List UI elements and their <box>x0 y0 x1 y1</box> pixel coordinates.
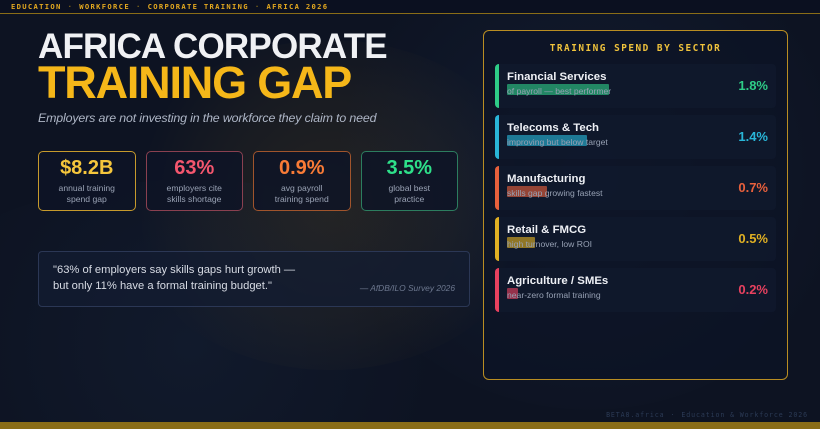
sector-accent-stripe <box>495 217 499 261</box>
sector-row-body: Agriculture / SMEsnear-zero formal train… <box>507 268 768 312</box>
kpi-value: $8.2B <box>60 158 113 178</box>
sector-name: Manufacturing <box>507 173 585 185</box>
quote-text: "63% of employers say skills gaps hurt g… <box>53 263 295 295</box>
kpi-card: 3.5%global best practice <box>361 151 459 211</box>
kpi-label: avg payroll training spend <box>275 183 329 205</box>
kicker-sep-2: · <box>249 2 267 11</box>
sector-row-body: Financial Servicesof payroll — best perf… <box>507 64 768 108</box>
sector-value: 0.2% <box>738 282 768 297</box>
kpi-value: 63% <box>174 158 214 178</box>
footer-brand: BETA8.africa <box>606 411 664 419</box>
sector-value: 0.7% <box>738 180 768 195</box>
sector-name: Financial Services <box>507 71 606 83</box>
kicker-item-1: WORKFORCE <box>79 2 130 11</box>
kicker-item-0: EDUCATION <box>11 2 62 11</box>
sector-row-body: Retail & FMCGhigh turnover, low ROI0.5% <box>507 217 768 261</box>
sector-value: 1.8% <box>738 78 768 93</box>
footer-tagline: Education & Workforce 2026 <box>681 411 808 419</box>
bottom-accent-bar <box>0 422 820 429</box>
sector-accent-stripe <box>495 268 499 312</box>
sector-note: near-zero formal training <box>507 290 601 300</box>
sector-value: 0.5% <box>738 231 768 246</box>
kpi-value: 0.9% <box>279 158 325 178</box>
kpi-card: 0.9%avg payroll training spend <box>253 151 351 211</box>
kpi-label: employers cite skills shortage <box>167 183 222 205</box>
sector-row[interactable]: Agriculture / SMEsnear-zero formal train… <box>495 268 776 312</box>
sector-accent-stripe <box>495 64 499 108</box>
kpi-card: 63%employers cite skills shortage <box>146 151 244 211</box>
sector-name: Agriculture / SMEs <box>507 275 608 287</box>
sector-name: Retail & FMCG <box>507 224 586 236</box>
sector-row[interactable]: Retail & FMCGhigh turnover, low ROI0.5% <box>495 217 776 261</box>
sector-row-body: Manufacturingskills gap growing fastest0… <box>507 166 768 210</box>
kicker-sep-1: · <box>130 2 148 11</box>
page-subtitle: Employers are not investing in the workf… <box>38 111 458 125</box>
quote-attribution: — AfDB/ILO Survey 2026 <box>360 283 455 295</box>
quote-callout: "63% of employers say skills gaps hurt g… <box>38 251 470 307</box>
footer-note: BETA8.africa·Education & Workforce 2026 <box>606 411 808 419</box>
sector-row[interactable]: Financial Servicesof payroll — best perf… <box>495 64 776 108</box>
sector-note: high turnover, low ROI <box>507 239 592 249</box>
kpi-card: $8.2Bannual training spend gap <box>38 151 136 211</box>
kicker-text: EDUCATION·WORKFORCE·CORPORATE TRAINING·A… <box>0 2 328 11</box>
hero-section: AFRICA CORPORATE TRAINING GAP Employers … <box>38 30 458 307</box>
footer-sep: · <box>665 411 682 419</box>
kpi-value: 3.5% <box>386 158 432 178</box>
page-title-line2: TRAINING GAP <box>38 61 458 104</box>
panel-title: TRAINING SPEND BY SECTOR <box>495 43 776 54</box>
sector-row[interactable]: Manufacturingskills gap growing fastest0… <box>495 166 776 210</box>
sector-name: Telecoms & Tech <box>507 122 599 134</box>
sector-note: improving but below target <box>507 137 608 147</box>
sector-note: skills gap growing fastest <box>507 188 603 198</box>
sector-row[interactable]: Telecoms & Techimproving but below targe… <box>495 115 776 159</box>
sector-note: of payroll — best performer <box>507 86 611 96</box>
kpi-label: global best practice <box>388 183 430 205</box>
kicker-item-3: AFRICA 2026 <box>267 2 329 11</box>
sector-value: 1.4% <box>738 129 768 144</box>
sector-accent-stripe <box>495 166 499 210</box>
top-kicker-bar: EDUCATION·WORKFORCE·CORPORATE TRAINING·A… <box>0 0 820 14</box>
sector-row-list: Financial Servicesof payroll — best perf… <box>495 64 776 312</box>
kpi-stat-group: $8.2Bannual training spend gap63%employe… <box>38 151 458 211</box>
sector-row-body: Telecoms & Techimproving but below targe… <box>507 115 768 159</box>
kpi-label: annual training spend gap <box>59 183 115 205</box>
kicker-sep-0: · <box>62 2 80 11</box>
sector-accent-stripe <box>495 115 499 159</box>
sector-spend-panel: TRAINING SPEND BY SECTOR Financial Servi… <box>483 30 788 380</box>
kicker-item-2: CORPORATE TRAINING <box>148 2 249 11</box>
